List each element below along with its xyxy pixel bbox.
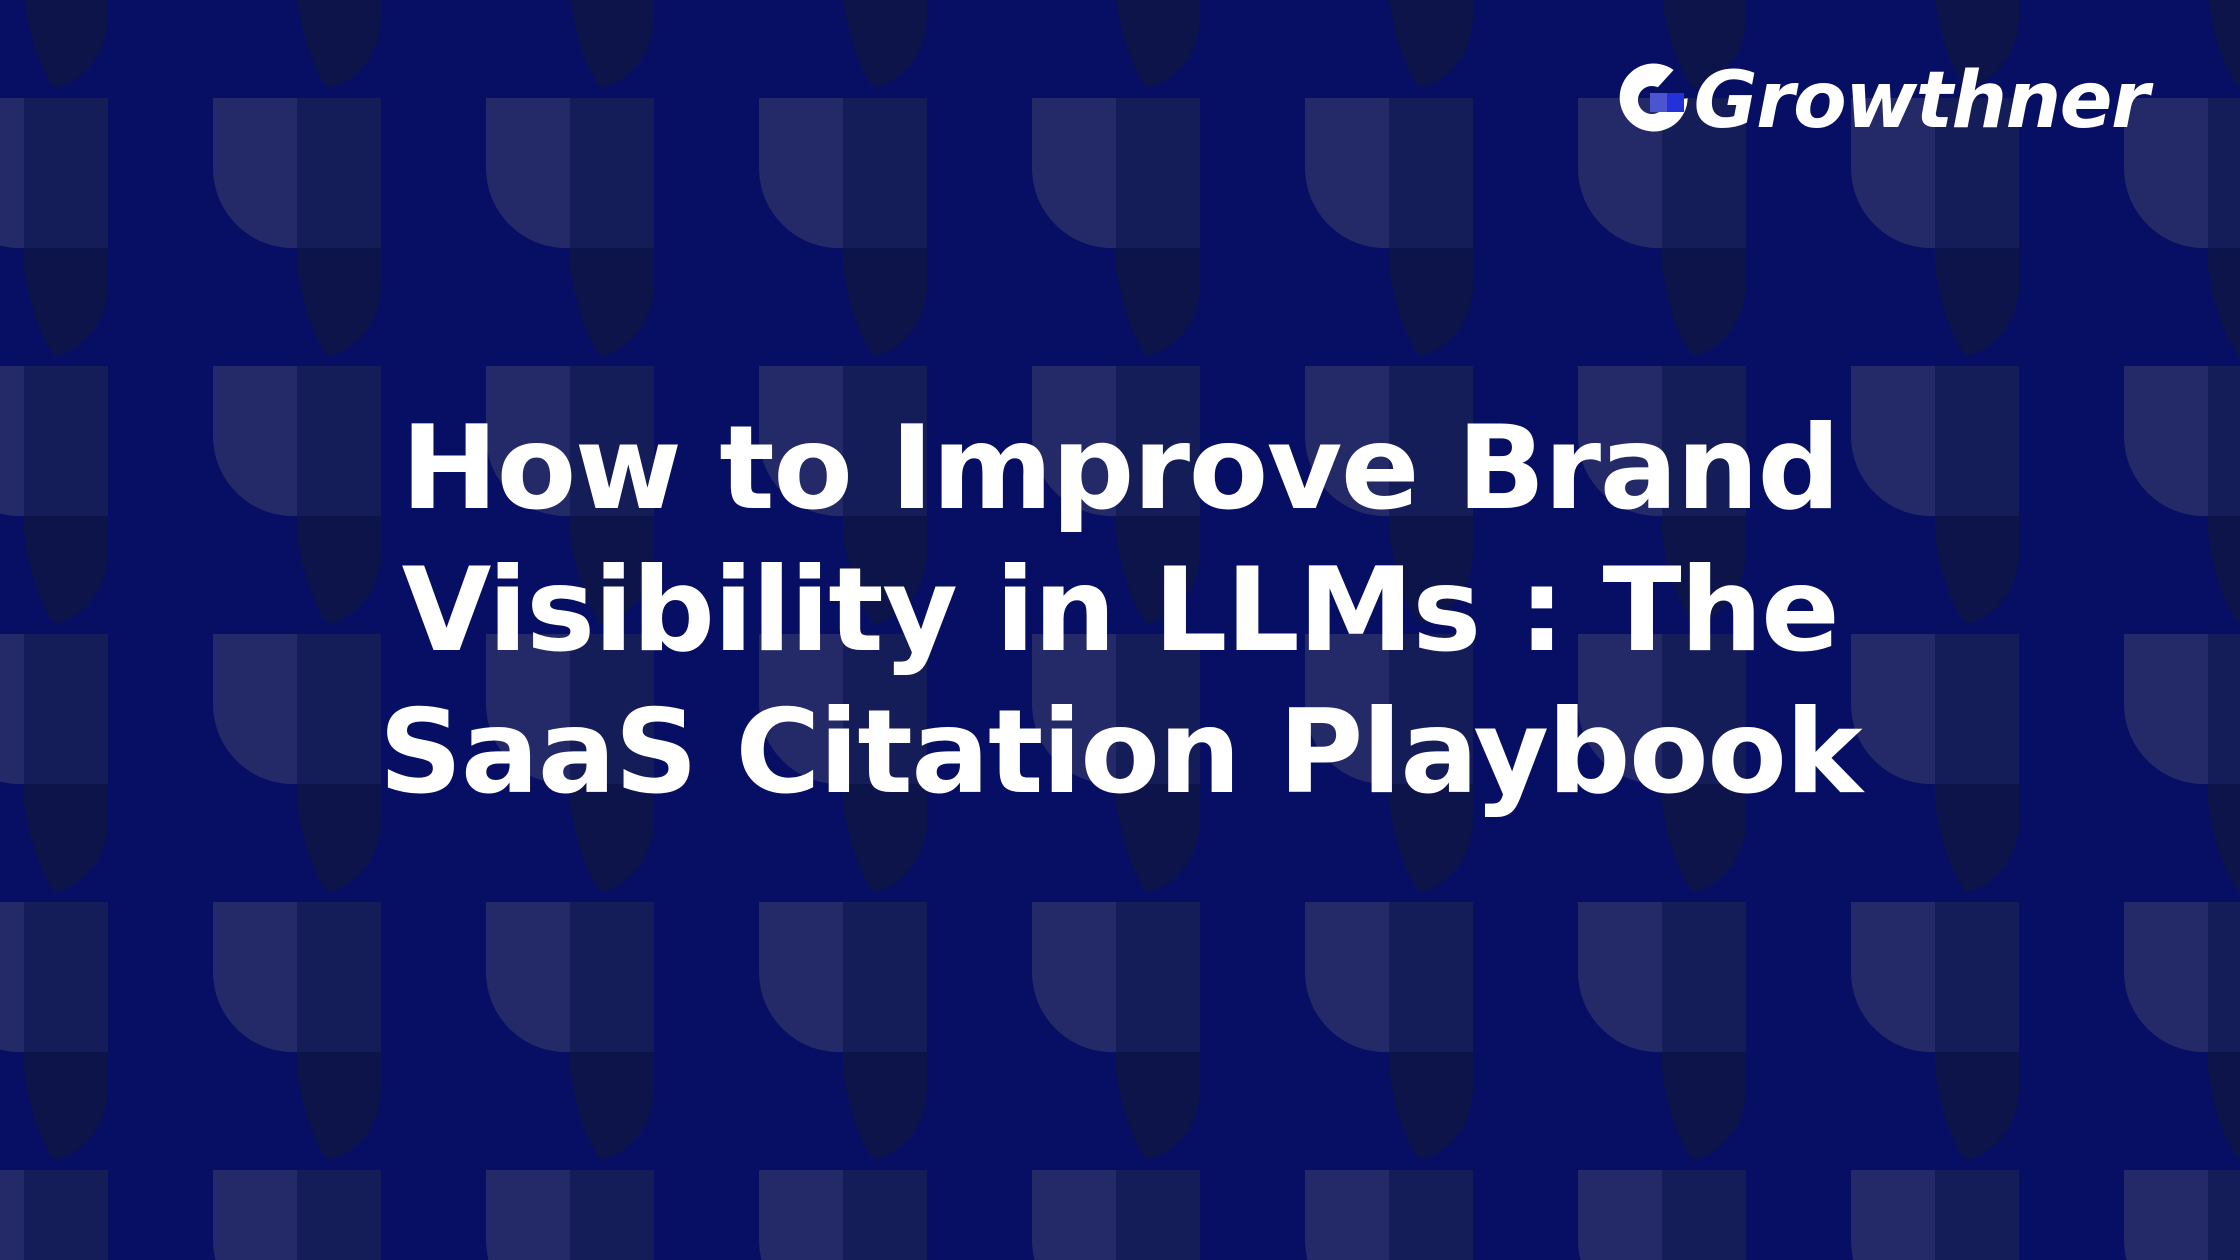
hero-title: How to Improve Brand Visibility in LLMs … (0, 398, 2240, 824)
brand-logo[interactable]: Growthner (1606, 48, 2148, 158)
title-line-1: How to Improve Brand (401, 398, 1839, 540)
growthner-g-mark-icon (1606, 55, 1702, 151)
slide-canvas: Growthner How to Improve Brand Visibilit… (0, 0, 2240, 1260)
brand-logo-wordmark: Growthner (1694, 62, 2148, 144)
title-line-3: SaaS Citation Playbook (379, 682, 1861, 824)
title-line-2: Visibility in LLMs : The (402, 540, 1839, 682)
